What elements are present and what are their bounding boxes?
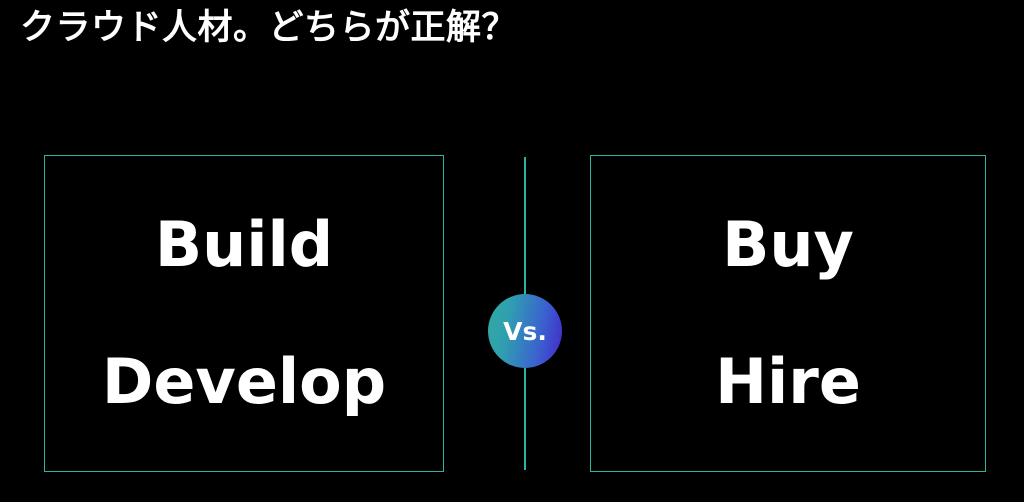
vs-badge-label: Vs. bbox=[503, 319, 547, 344]
left-panel-primary-label: Build bbox=[155, 214, 333, 276]
right-panel-secondary-label: Hire bbox=[715, 351, 861, 413]
comparison-panel-right[interactable]: Buy Hire bbox=[590, 155, 986, 472]
left-panel-secondary-label: Develop bbox=[102, 351, 386, 413]
vs-badge: Vs. bbox=[488, 294, 562, 368]
slide-root: クラウド人材。どちらが正解？ Build Develop Vs. Buy Hir… bbox=[0, 0, 1024, 502]
right-panel-primary-label: Buy bbox=[722, 214, 854, 276]
comparison-panel-left[interactable]: Build Develop bbox=[44, 155, 444, 472]
comparison-section: Build Develop Vs. Buy Hire bbox=[0, 0, 1024, 502]
